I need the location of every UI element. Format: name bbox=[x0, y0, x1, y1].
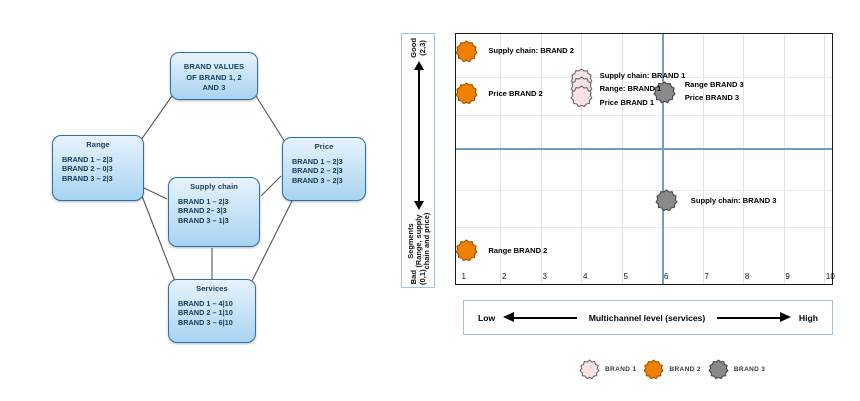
point-label-0: Supply chain: BRAND 2 bbox=[488, 46, 574, 56]
arrow-right-icon bbox=[717, 312, 791, 323]
grid-line-horizontal bbox=[456, 190, 832, 191]
node-services-title: Services bbox=[169, 284, 255, 294]
x-axis-tick-1: 1 bbox=[462, 272, 466, 281]
data-point-brand-2-0[interactable] bbox=[456, 41, 477, 62]
x-axis-tick-8: 8 bbox=[745, 272, 749, 281]
grid-line-vertical bbox=[703, 34, 704, 284]
y-axis-arrow-icon bbox=[414, 61, 424, 210]
node-brand-values[interactable]: BRAND VALUESOF BRAND 1, 2AND 3 bbox=[170, 52, 258, 100]
x-axis-tick-9: 9 bbox=[785, 272, 789, 281]
x-axis-low-label: Low bbox=[478, 313, 495, 323]
y-axis-label-box: Good(2,3) Segments(Range, supplychain an… bbox=[401, 33, 435, 288]
point-label-8: Supply chain: BRAND 3 bbox=[691, 196, 777, 206]
x-axis-tick-7: 7 bbox=[704, 272, 708, 281]
y-axis-title: Segments(Range, supplychain and price) bbox=[407, 213, 432, 270]
node-supply-chain-row: BRAND 3 – 1|3 bbox=[178, 216, 259, 225]
node-supply-chain-title: Supply chain bbox=[169, 182, 259, 192]
node-price-rows: BRAND 1 – 2|3 BRAND 2 – 2|3 BRAND 3 – 2|… bbox=[283, 157, 365, 185]
chart-legend: BRAND 1BRAND 2BRAND 3 bbox=[580, 352, 845, 386]
node-services-row: BRAND 2 – 1|10 bbox=[178, 308, 255, 317]
node-price-row: BRAND 2 – 2|3 bbox=[292, 166, 365, 175]
node-range-row: BRAND 1 – 2|3 bbox=[62, 155, 143, 164]
node-supply-chain[interactable]: Supply chain BRAND 1 – 2|3 BRAND 2– 3|3 … bbox=[168, 177, 260, 247]
y-axis-bottom-label: Bad(0,1) bbox=[410, 269, 427, 285]
grid-line-horizontal bbox=[456, 115, 832, 116]
legend-swatch-icon bbox=[580, 360, 599, 379]
arrow-left-icon bbox=[503, 312, 577, 323]
node-range-title: Range bbox=[53, 140, 143, 150]
node-price-row: BRAND 1 – 2|3 bbox=[292, 157, 365, 166]
legend-item-brand-3[interactable]: BRAND 3 bbox=[709, 360, 765, 379]
point-label-5: Price BRAND 1 bbox=[600, 98, 654, 108]
node-supply-chain-row: BRAND 1 – 2|3 bbox=[178, 197, 259, 206]
data-point-brand-3-8[interactable] bbox=[656, 190, 677, 211]
x-axis-tick-5: 5 bbox=[623, 272, 627, 281]
node-price-row: BRAND 3 – 2|3 bbox=[292, 176, 365, 185]
x-axis-title: Multichannel level (services) bbox=[585, 313, 710, 323]
x-axis-tick-6: 6 bbox=[664, 272, 668, 281]
x-axis-tick-2: 2 bbox=[502, 272, 506, 281]
legend-item-brand-1[interactable]: BRAND 1 bbox=[580, 360, 636, 379]
x-axis-tick-10: 10 bbox=[826, 272, 835, 281]
legend-label: BRAND 3 bbox=[734, 366, 765, 373]
node-brand-values-title: BRAND VALUESOF BRAND 1, 2AND 3 bbox=[171, 57, 257, 94]
point-label-4: Range: BRAND 1 bbox=[600, 84, 662, 94]
legend-label: BRAND 2 bbox=[669, 366, 700, 373]
brand-values-diagram: BRAND VALUESOF BRAND 1, 2AND 3 Range BRA… bbox=[0, 0, 385, 401]
point-label-3: Supply chain: BRAND 1 bbox=[600, 71, 686, 81]
node-supply-chain-rows: BRAND 1 – 2|3 BRAND 2– 3|3 BRAND 3 – 1|3 bbox=[169, 197, 259, 225]
plot-area[interactable]: 12345678910Supply chain: BRAND 2Price BR… bbox=[455, 33, 833, 285]
quadrant-divider-horizontal bbox=[456, 148, 832, 150]
node-range-rows: BRAND 1 – 2|3 BRAND 2 – 0|3 BRAND 3 – 2|… bbox=[53, 155, 143, 183]
grid-line-vertical bbox=[824, 34, 825, 284]
legend-swatch-icon bbox=[644, 360, 663, 379]
data-point-brand-2-1[interactable] bbox=[456, 83, 477, 104]
x-axis-tick-3: 3 bbox=[542, 272, 546, 281]
legend-item-brand-2[interactable]: BRAND 2 bbox=[644, 360, 700, 379]
node-range-row: BRAND 2 – 0|3 bbox=[62, 164, 143, 173]
legend-swatch-icon bbox=[709, 360, 728, 379]
x-axis-label-box: Low Multichannel level (services) High bbox=[463, 300, 833, 335]
node-services[interactable]: Services BRAND 1 – 4|10 BRAND 2 – 1|10 B… bbox=[168, 279, 256, 343]
grid-line-vertical bbox=[743, 34, 744, 284]
node-services-row: BRAND 3 – 6|10 bbox=[178, 318, 255, 327]
node-range[interactable]: Range BRAND 1 – 2|3 BRAND 2 – 0|3 BRAND … bbox=[52, 135, 144, 201]
node-price[interactable]: Price BRAND 1 – 2|3 BRAND 2 – 2|3 BRAND … bbox=[282, 137, 366, 201]
node-services-row: BRAND 1 – 4|10 bbox=[178, 299, 255, 308]
point-label-1: Price BRAND 2 bbox=[488, 89, 542, 99]
data-point-brand-1-5[interactable] bbox=[571, 86, 592, 107]
grid-line-vertical bbox=[784, 34, 785, 284]
point-label-6: Range BRAND 3 bbox=[685, 80, 744, 90]
point-label-2: Range BRAND 2 bbox=[488, 246, 547, 256]
grid-line-horizontal bbox=[456, 227, 832, 228]
node-range-row: BRAND 3 – 2|3 bbox=[62, 174, 143, 183]
positioning-chart-panel: Good(2,3) Segments(Range, supplychain an… bbox=[385, 0, 860, 401]
x-axis-tick-4: 4 bbox=[583, 272, 587, 281]
legend-label: BRAND 1 bbox=[605, 366, 636, 373]
node-supply-chain-row: BRAND 2– 3|3 bbox=[178, 206, 259, 215]
node-price-title: Price bbox=[283, 142, 365, 152]
x-axis-high-label: High bbox=[799, 313, 818, 323]
point-label-7: Price BRAND 3 bbox=[685, 93, 739, 103]
y-axis-top-label: Good(2,3) bbox=[410, 38, 427, 58]
data-point-brand-2-2[interactable] bbox=[456, 240, 477, 261]
node-services-rows: BRAND 1 – 4|10 BRAND 2 – 1|10 BRAND 3 – … bbox=[169, 299, 255, 327]
